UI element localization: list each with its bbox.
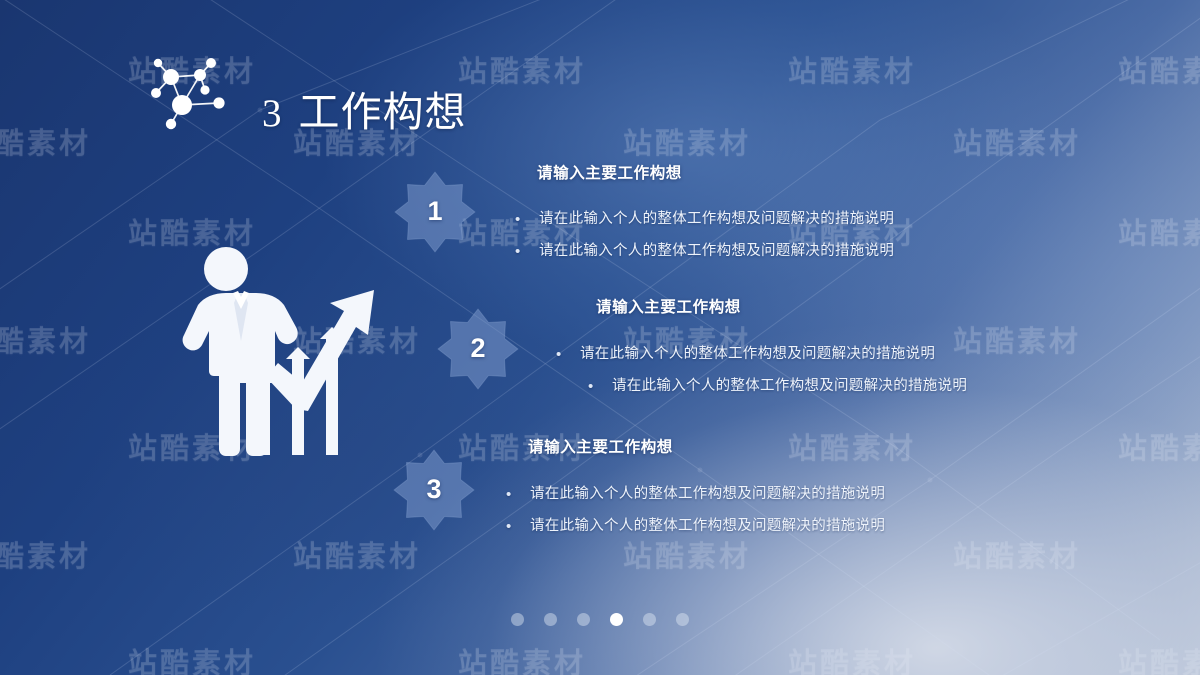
- step-heading-1: 请输入主要工作构想: [537, 166, 894, 182]
- step-badge-2[interactable]: 2: [435, 306, 521, 392]
- slide-canvas: 站酷素材 站酷素材 站酷素材 站酷素材 站酷素材 站酷素材 站酷素材 站酷素材 …: [0, 0, 1200, 675]
- pagination-dot-6[interactable]: [676, 613, 689, 626]
- step-text-2: 请输入主要工作构想 • 请在此输入个人的整体工作构想及问题解决的措施说明 • 请…: [596, 300, 967, 394]
- bullet-glyph: •: [506, 519, 530, 534]
- step-badge-number-3: 3: [391, 447, 477, 533]
- step-heading-2: 请输入主要工作构想: [596, 300, 967, 316]
- bullet-glyph: •: [588, 379, 612, 394]
- step-text-1: 请输入主要工作构想 • 请在此输入个人的整体工作构想及问题解决的措施说明 • 请…: [537, 166, 894, 259]
- step-bullet-2-2: • 请在此输入个人的整体工作构想及问题解决的措施说明: [588, 379, 967, 394]
- step-badge-number-2: 2: [435, 306, 521, 392]
- steps-container: 1 请输入主要工作构想 • 请在此输入个人的整体工作构想及问题解决的措施说明 •…: [0, 0, 1200, 675]
- pagination-dot-4-active[interactable]: [610, 613, 623, 626]
- step-bullet-text: 请在此输入个人的整体工作构想及问题解决的措施说明: [530, 487, 885, 502]
- bullet-glyph: •: [515, 244, 539, 259]
- step-bullet-3-1: • 请在此输入个人的整体工作构想及问题解决的措施说明: [506, 487, 885, 502]
- pagination-dot-1[interactable]: [511, 613, 524, 626]
- step-bullet-text: 请在此输入个人的整体工作构想及问题解决的措施说明: [530, 519, 885, 534]
- step-badge-3[interactable]: 3: [391, 447, 477, 533]
- step-badge-1[interactable]: 1: [392, 169, 478, 255]
- pagination-dot-5[interactable]: [643, 613, 656, 626]
- step-bullet-text: 请在此输入个人的整体工作构想及问题解决的措施说明: [580, 347, 935, 362]
- bullet-glyph: •: [556, 347, 580, 362]
- bullet-glyph: •: [515, 212, 539, 227]
- step-text-3: 请输入主要工作构想 • 请在此输入个人的整体工作构想及问题解决的措施说明 • 请…: [528, 440, 885, 534]
- step-badge-number-1: 1: [392, 169, 478, 255]
- step-bullet-text: 请在此输入个人的整体工作构想及问题解决的措施说明: [539, 244, 894, 259]
- step-bullet-3-2: • 请在此输入个人的整体工作构想及问题解决的措施说明: [506, 519, 885, 534]
- step-bullet-1-2: • 请在此输入个人的整体工作构想及问题解决的措施说明: [515, 244, 894, 259]
- pagination-dot-2[interactable]: [544, 613, 557, 626]
- step-bullet-text: 请在此输入个人的整体工作构想及问题解决的措施说明: [612, 379, 967, 394]
- step-heading-3: 请输入主要工作构想: [528, 440, 885, 456]
- step-bullet-2-1: • 请在此输入个人的整体工作构想及问题解决的措施说明: [556, 347, 967, 362]
- pagination-dots[interactable]: [0, 613, 1200, 626]
- step-bullet-1-1: • 请在此输入个人的整体工作构想及问题解决的措施说明: [515, 212, 894, 227]
- pagination-dot-3[interactable]: [577, 613, 590, 626]
- step-bullet-text: 请在此输入个人的整体工作构想及问题解决的措施说明: [539, 212, 894, 227]
- bullet-glyph: •: [506, 487, 530, 502]
